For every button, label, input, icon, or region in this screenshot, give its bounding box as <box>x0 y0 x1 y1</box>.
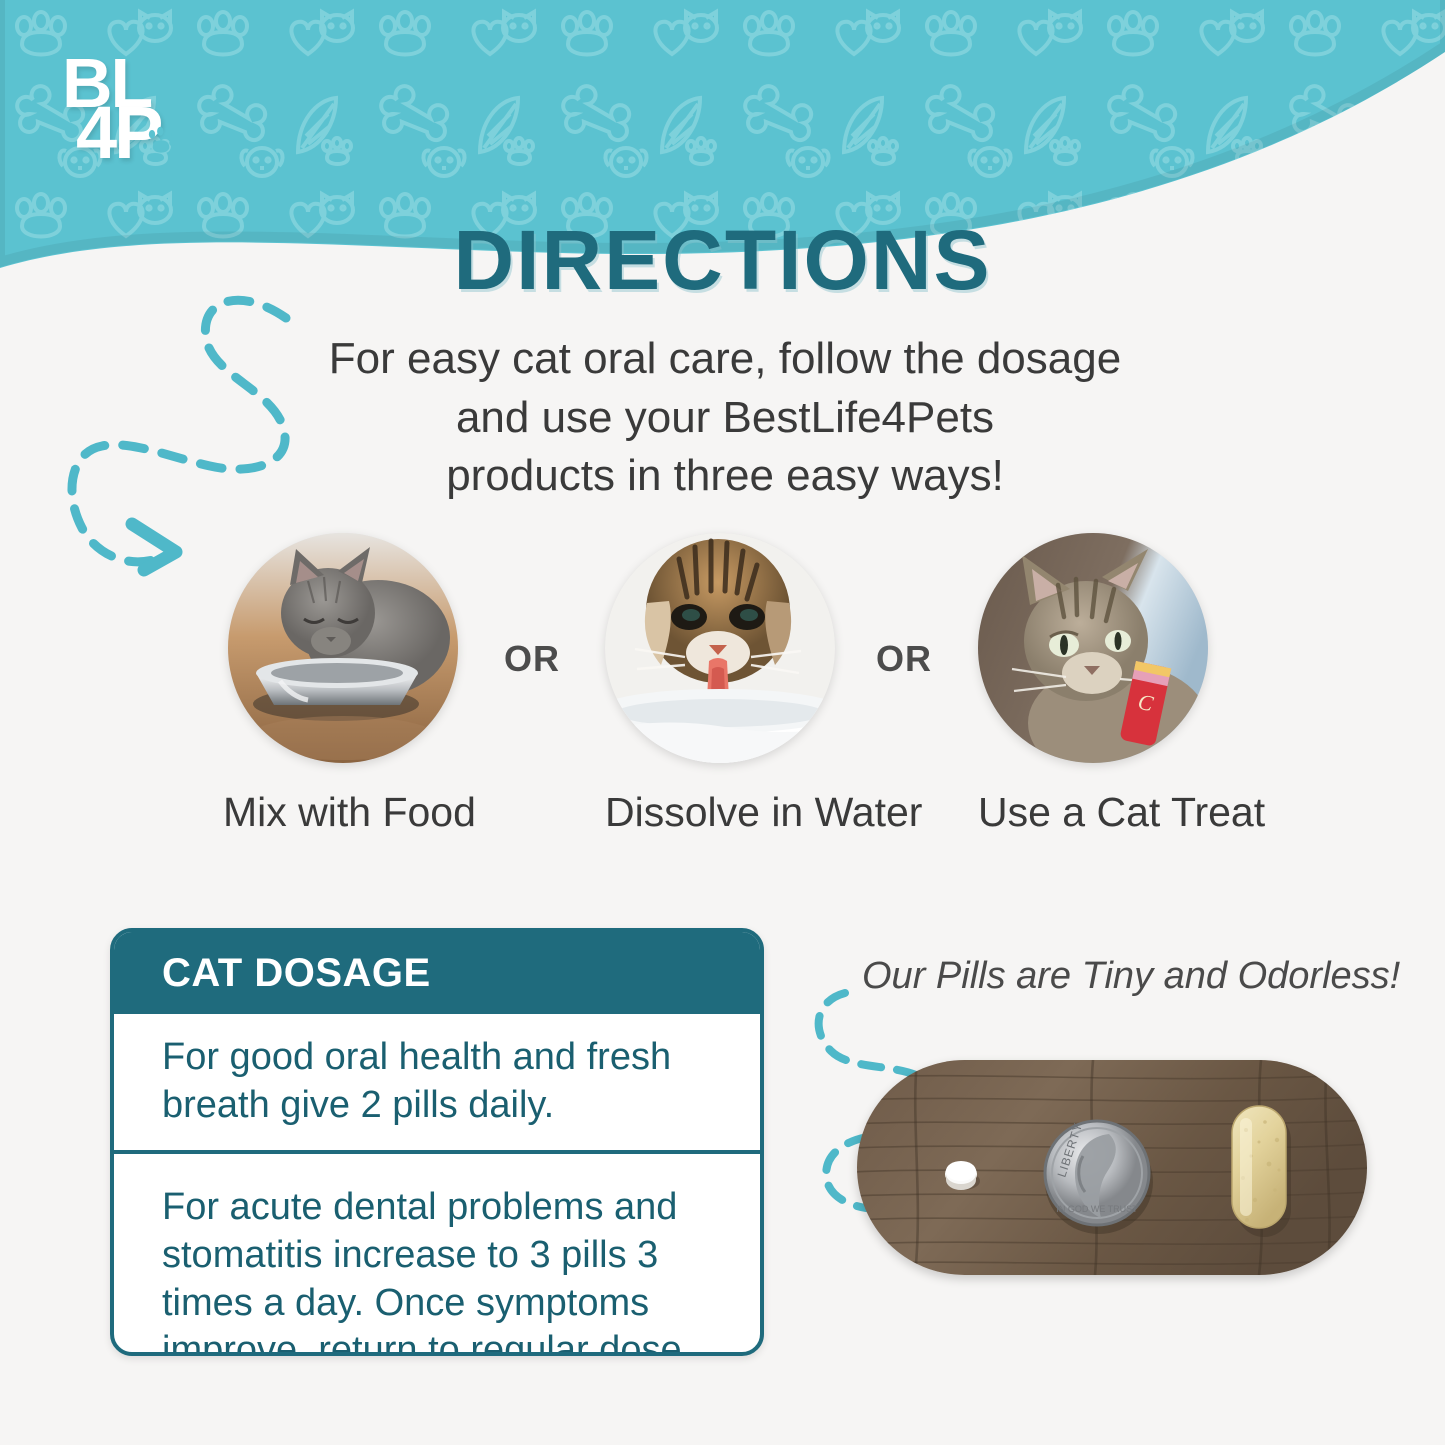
method-mix-with-food: Mix with Food <box>228 533 458 836</box>
separator-or-1: OR <box>504 638 560 680</box>
dosage-row-2: For acute dental problems and stomatitis… <box>114 1150 760 1356</box>
method-label: Dissolve in Water <box>605 789 835 836</box>
intro-paragraph: For easy cat oral care, follow the dosag… <box>310 330 1140 506</box>
method-label: Use a Cat Treat <box>978 789 1208 836</box>
cat-dosage-card: CAT DOSAGE For good oral health and fres… <box>110 928 764 1356</box>
cat-eating-from-bowl-photo <box>228 533 458 763</box>
brand-logo: BL 4P <box>62 48 172 173</box>
cat-with-treat-photo: C <box>978 533 1208 763</box>
method-use-a-cat-treat: C Use a Cat Treat <box>978 533 1208 836</box>
separator-or-2: OR <box>876 638 932 680</box>
svg-text:IN GOD WE TRUST: IN GOD WE TRUST <box>1056 1204 1138 1214</box>
paw-print-icon <box>146 126 176 156</box>
method-label: Mix with Food <box>223 789 458 836</box>
intro-line-3: products in three easy ways! <box>310 447 1140 506</box>
intro-line-1: For easy cat oral care, follow the dosag… <box>310 330 1140 389</box>
dosage-row-1: For good oral health and fresh breath gi… <box>114 1014 760 1150</box>
dosage-heading: CAT DOSAGE <box>114 932 760 1014</box>
wood-board-with-pill-dime-and-capsule-photo: LIBERTY IN GOD WE TRUST <box>857 1060 1367 1275</box>
intro-line-2: and use your BestLife4Pets <box>310 389 1140 448</box>
method-dissolve-in-water: Dissolve in Water <box>605 533 835 836</box>
cat-drinking-water-photo <box>605 533 835 763</box>
